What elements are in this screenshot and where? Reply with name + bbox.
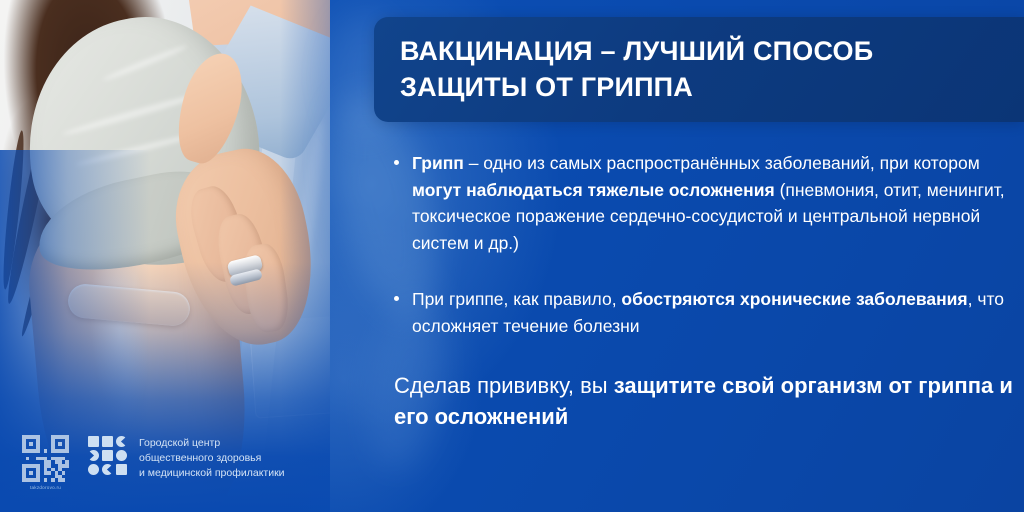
list-item: Грипп – одно из самых распространённых з… (394, 150, 1014, 256)
logo-shape-circle (116, 450, 127, 461)
org-line-2: общественного здоровья (139, 451, 285, 466)
vaccination-flu-poster: ВАКЦИНАЦИЯ – ЛУЧШИЙ СПОСОБ ЗАЩИТЫ ОТ ГРИ… (0, 0, 1024, 512)
bullet-text: Грипп – одно из самых распространённых з… (412, 150, 1014, 256)
title-box: ВАКЦИНАЦИЯ – ЛУЧШИЙ СПОСОБ ЗАЩИТЫ ОТ ГРИ… (374, 17, 1024, 122)
footer-logo: takzdorovo.ru Городской центр общественн… (22, 435, 285, 490)
logo-shape-square (88, 436, 99, 447)
logo-shape-circle (88, 464, 99, 475)
poster-body: Грипп – одно из самых распространённых з… (394, 150, 1014, 432)
call-to-action: Сделав прививку, вы защитите свой органи… (394, 370, 1014, 432)
title-line-2: ЗАЩИТЫ ОТ ГРИППА (400, 72, 693, 102)
organization-name: Городской центр общественного здоровья и… (139, 435, 285, 481)
page-title: ВАКЦИНАЦИЯ – ЛУЧШИЙ СПОСОБ ЗАЩИТЫ ОТ ГРИ… (400, 33, 1006, 105)
qr-block[interactable]: takzdorovo.ru (22, 435, 69, 490)
bullet-text: При гриппе, как правило, обостряются хро… (412, 286, 1014, 339)
logo-shape-pac-left (102, 464, 113, 475)
bullet-dot-icon (394, 160, 399, 165)
logo-shape-square (116, 464, 127, 475)
logo-shape-square (102, 450, 113, 461)
list-item: При гриппе, как правило, обостряются хро… (394, 286, 1014, 339)
logo-shape-pac-left (116, 436, 127, 447)
logo-shape-pac-right (88, 450, 99, 461)
bullet-dot-icon (394, 296, 399, 301)
org-line-3: и медицинской профилактики (139, 466, 285, 481)
qr-code-icon[interactable] (22, 435, 69, 482)
title-line-1: ВАКЦИНАЦИЯ – ЛУЧШИЙ СПОСОБ (400, 36, 873, 66)
qr-caption: takzdorovo.ru (22, 485, 69, 490)
logo-shape-square (102, 436, 113, 447)
organization-logo-mark (88, 436, 128, 476)
org-line-1: Городской центр (139, 436, 285, 451)
